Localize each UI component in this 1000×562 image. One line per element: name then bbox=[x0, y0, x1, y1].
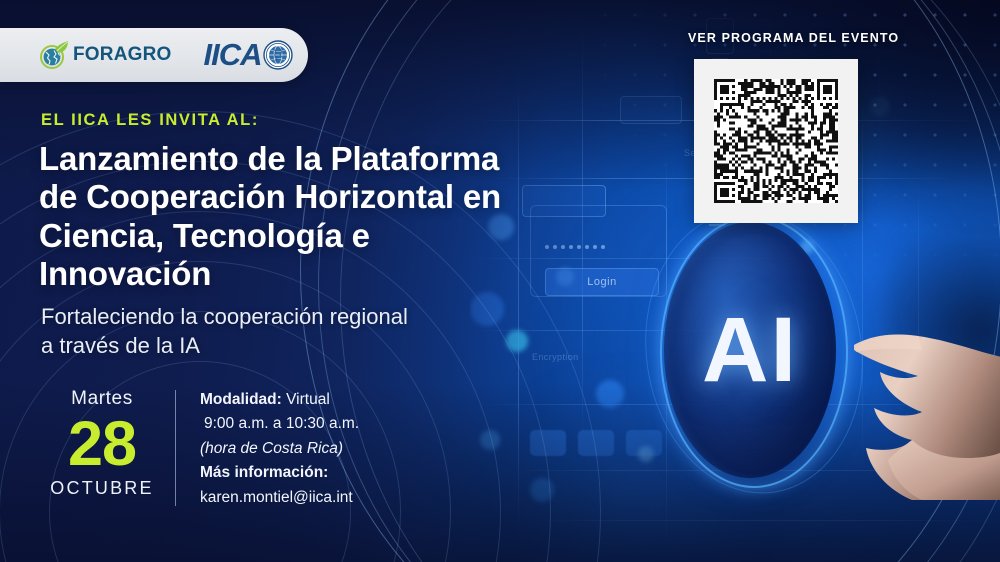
globe-seal-icon bbox=[263, 40, 293, 70]
foragro-logo: FORAGRO bbox=[38, 39, 172, 71]
page-title: Lanzamiento de la Plataforma de Cooperac… bbox=[39, 140, 509, 294]
date-day-number: 28 bbox=[38, 415, 166, 475]
logo-bar: FORAGRO IICA bbox=[0, 28, 308, 82]
date-block: Martes 28 OCTUBRE bbox=[38, 388, 166, 499]
qr-code[interactable] bbox=[714, 79, 838, 203]
foragro-wordmark: FORAGRO bbox=[73, 44, 172, 66]
modality-label: Modalidad: bbox=[200, 391, 282, 408]
event-banner: Server Security Encryption Devices Login bbox=[0, 0, 1000, 562]
kicker-text: EL IICA LES INVITA AL: bbox=[41, 111, 259, 130]
date-month: OCTUBRE bbox=[38, 478, 166, 499]
pointing-hand-icon bbox=[826, 300, 1000, 500]
vertical-divider bbox=[175, 390, 176, 506]
timezone-line: (hora de Costa Rica) bbox=[200, 437, 450, 461]
more-info-label: Más información: bbox=[200, 461, 450, 485]
time-line: 9:00 a.m. a 10:30 a.m. bbox=[200, 412, 450, 436]
iica-wordmark: IICA bbox=[204, 37, 262, 73]
ai-label: AI bbox=[664, 222, 836, 478]
iica-logo: IICA bbox=[204, 37, 293, 73]
more-info-text: Más información: bbox=[200, 464, 328, 481]
modality-value: Virtual bbox=[286, 391, 330, 408]
contact-email[interactable]: karen.montiel@iica.int bbox=[200, 486, 450, 510]
qr-title: VER PROGRAMA DEL EVENTO bbox=[688, 31, 899, 45]
subtitle: Fortaleciendo la cooperación regional a … bbox=[41, 303, 421, 360]
qr-panel[interactable] bbox=[694, 59, 858, 223]
date-weekday: Martes bbox=[38, 388, 166, 410]
event-details: Modalidad: Virtual 9:00 a.m. a 10:30 a.m… bbox=[200, 388, 450, 510]
modality-line: Modalidad: Virtual bbox=[200, 388, 450, 412]
globe-leaf-icon bbox=[38, 39, 70, 71]
